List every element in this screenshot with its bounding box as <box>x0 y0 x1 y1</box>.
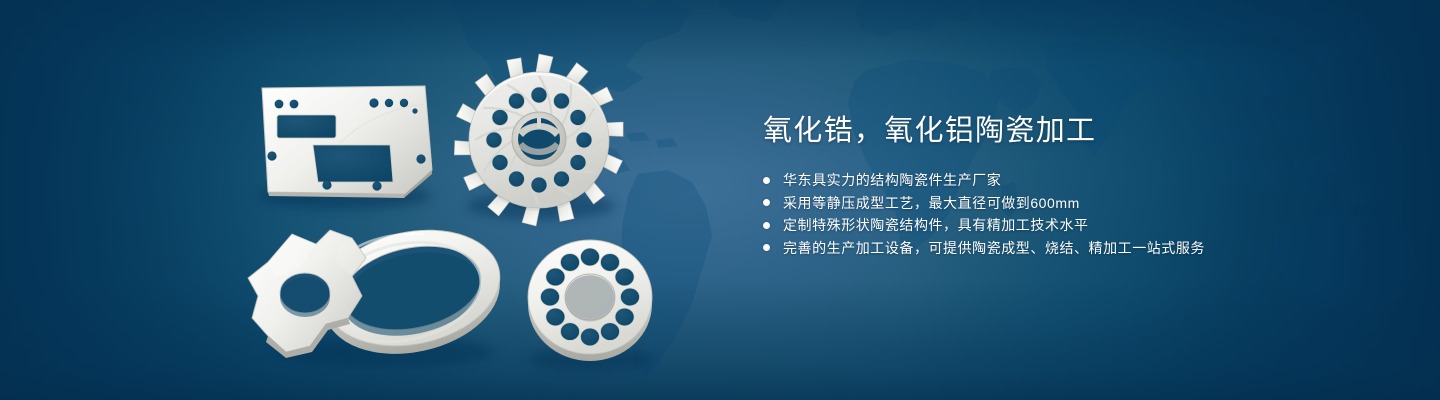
bullet-dot-icon <box>763 199 770 206</box>
list-item: 华东具实力的结构陶瓷件生产厂家 <box>763 169 1383 191</box>
bullet-text: 采用等静压成型工艺，最大直径可做到600mm <box>783 192 1080 214</box>
ceramic-cross-part-and-ring <box>248 215 511 370</box>
bullet-dot-icon <box>763 244 770 251</box>
ceramic-vaned-impeller <box>452 54 626 226</box>
ceramic-processing-banner: 氧化锆，氧化铝陶瓷加工 华东具实力的结构陶瓷件生产厂家 采用等静压成型工艺，最大… <box>0 0 1440 400</box>
list-item: 定制特殊形状陶瓷结构件，具有精加工技术水平 <box>763 214 1383 236</box>
page-title: 氧化锆，氧化铝陶瓷加工 <box>763 112 1383 150</box>
list-item: 完善的生产加工设备，可提供陶瓷成型、烧结、精加工一站式服务 <box>763 237 1383 259</box>
bullet-text: 华东具实力的结构陶瓷件生产厂家 <box>783 169 1001 191</box>
ceramic-products-group <box>0 0 700 400</box>
bullet-dot-icon <box>763 177 770 184</box>
ceramic-machined-plate <box>259 86 432 209</box>
bullet-text: 完善的生产加工设备，可提供陶瓷成型、烧结、精加工一站式服务 <box>783 237 1205 259</box>
ceramic-perforated-disc <box>528 240 652 371</box>
bullet-dot-icon <box>763 222 770 229</box>
bullet-text: 定制特殊形状陶瓷结构件，具有精加工技术水平 <box>783 214 1089 236</box>
banner-copy-block: 氧化锆，氧化铝陶瓷加工 华东具实力的结构陶瓷件生产厂家 采用等静压成型工艺，最大… <box>763 112 1383 259</box>
feature-bullet-list: 华东具实力的结构陶瓷件生产厂家 采用等静压成型工艺，最大直径可做到600mm 定… <box>763 169 1383 259</box>
list-item: 采用等静压成型工艺，最大直径可做到600mm <box>763 192 1383 214</box>
